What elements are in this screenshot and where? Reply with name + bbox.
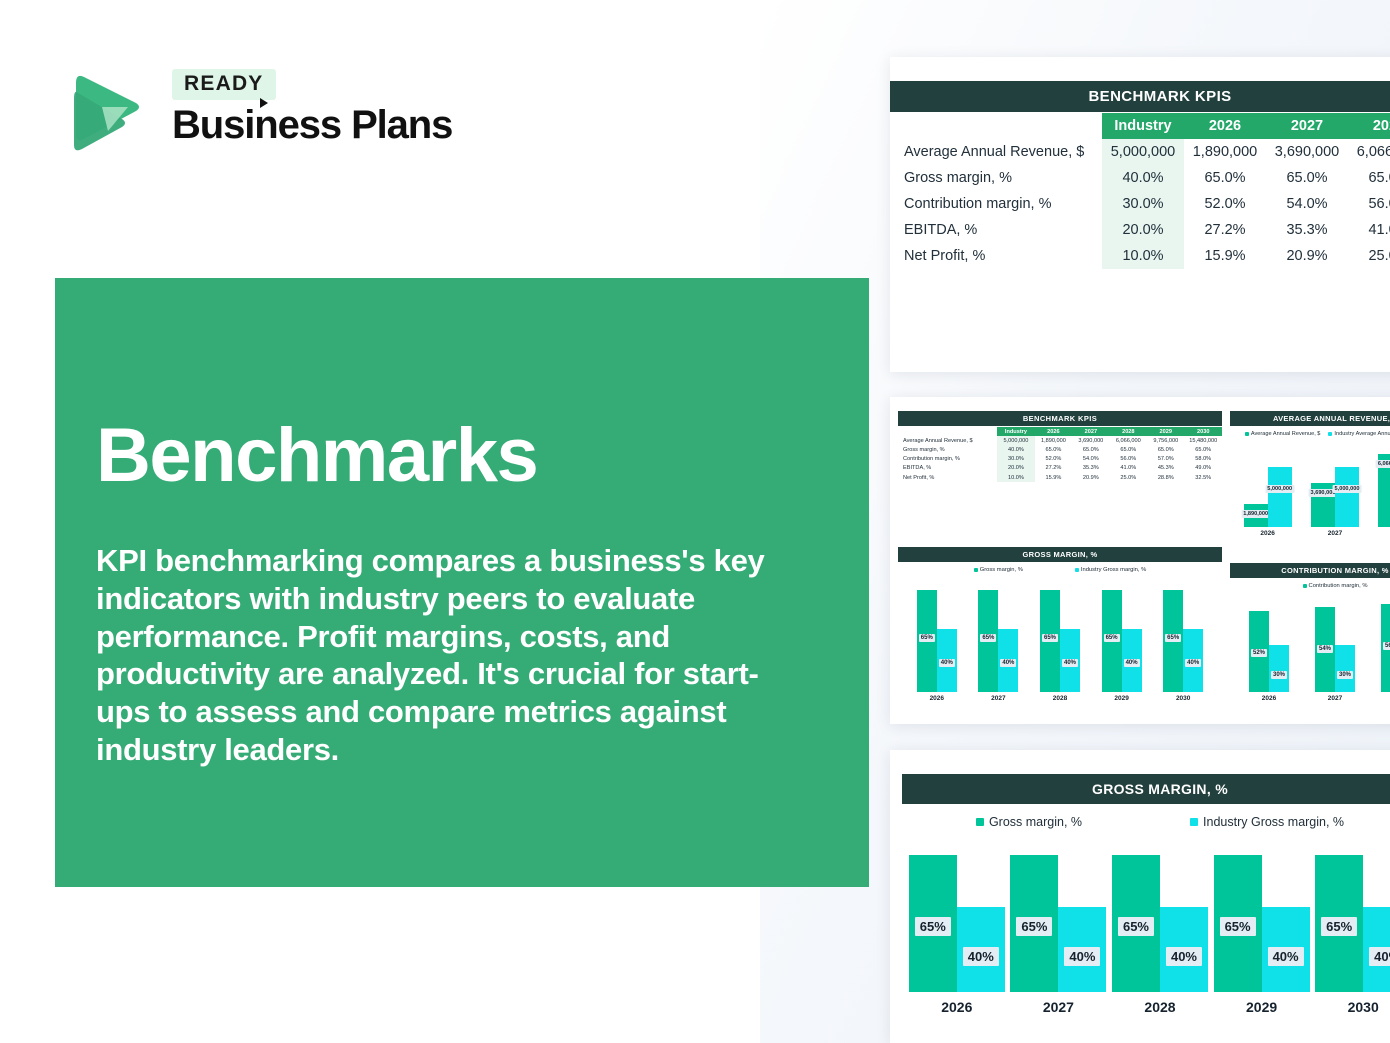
chart-group: 65%40%2027 xyxy=(978,578,1018,702)
legend-swatch-icon xyxy=(976,818,984,826)
table-row: Contribution margin, %30.0%52.0%54.0%56.… xyxy=(898,455,1222,464)
kpi-cell: 20.9% xyxy=(1072,473,1109,482)
bar-value-label: 40% xyxy=(1369,947,1390,966)
chart-bar: 5,000,000 xyxy=(1268,467,1292,527)
kpi-cell: 25.0% xyxy=(1348,243,1390,269)
kpi-corner-cell xyxy=(898,427,997,436)
ready-badge: READY xyxy=(172,69,276,100)
gross-margin-legend: Gross margin, % Industry Gross margin, % xyxy=(890,815,1390,829)
legend-item-industry: Industry Gross margin, % xyxy=(1190,815,1344,829)
contribution-margin-bar-chart: 52%30%202654%30%202756%30%2028 xyxy=(1236,594,1390,702)
chart-bar: 65% xyxy=(1102,590,1122,692)
bar-value-label: 65% xyxy=(1042,634,1058,642)
legend-swatch-icon xyxy=(1075,568,1079,572)
chart-group: 6,066,0005,000,0002028 xyxy=(1378,441,1390,537)
chart-bar: 40% xyxy=(1183,629,1203,692)
bar-value-label: 30% xyxy=(1271,671,1287,679)
bar-value-label: 40% xyxy=(1268,947,1304,966)
benchmark-overview-card: BENCHMARK KPIS Industry20262027202820292… xyxy=(890,397,1390,724)
chart-bar: 5,000,000 xyxy=(1335,467,1359,527)
bar-value-label: 65% xyxy=(980,634,996,642)
kpi-cell: 3,690,000 xyxy=(1072,436,1109,445)
chart-x-label: 2028 xyxy=(1144,999,1175,1015)
bar-value-label: 30% xyxy=(1337,671,1353,679)
kpi-row-label: EBITDA, % xyxy=(890,217,1102,243)
chart-bar: 65% xyxy=(1010,855,1058,992)
chart-bar: 65% xyxy=(917,590,937,692)
chart-group: 65%40%2029 xyxy=(1214,839,1310,1015)
chart-bar: 30% xyxy=(1269,645,1289,692)
kpi-cell: 27.2% xyxy=(1035,464,1072,473)
chart-x-label: 2029 xyxy=(1246,999,1277,1015)
table-row: Net Profit, %10.0%15.9%20.9%25.0%28.8%32… xyxy=(898,473,1222,482)
bar-value-label: 40% xyxy=(1185,659,1201,667)
kpi-cell: 35.3% xyxy=(1072,464,1109,473)
bar-value-label: 65% xyxy=(1118,917,1154,936)
chart-group: 65%40%2029 xyxy=(1102,578,1142,702)
gross-margin-bar-chart: 65%40%202665%40%202765%40%202865%40%2029… xyxy=(906,839,1390,1015)
chart-bar: 40% xyxy=(937,629,957,692)
kpi-cell: 41.0% xyxy=(1110,464,1147,473)
chart-x-label: 2029 xyxy=(1114,695,1128,702)
kpi-cell: 1,890,000 xyxy=(1184,139,1266,165)
legend-label: Industry Gross margin, % xyxy=(1081,567,1146,573)
table-row: Average Annual Revenue, $5,000,0001,890,… xyxy=(898,436,1222,445)
chart-x-label: 2027 xyxy=(1328,530,1342,537)
kpi-cell: 10.0% xyxy=(997,473,1034,482)
legend-item-gm-industry: Industry Gross margin, % xyxy=(1075,567,1146,573)
play-triangle-logo-icon xyxy=(58,55,150,155)
bar-value-label: 65% xyxy=(1165,634,1181,642)
kpi-table-large: BENCHMARK KPIS Industry202620272028 Aver… xyxy=(890,81,1390,269)
chart-group: 54%30%2027 xyxy=(1315,594,1355,702)
legend-item-revenue-industry: Industry Average Annual Revenue, $ xyxy=(1328,431,1390,437)
kpi-cell: 10.0% xyxy=(1102,243,1184,269)
slide-canvas: READY Business Plans Benchmarks KPI benc… xyxy=(0,0,1390,1043)
kpi-cell: 52.0% xyxy=(1035,455,1072,464)
chart-bar: 40% xyxy=(1058,907,1106,992)
kpi-row-label: Gross margin, % xyxy=(890,165,1102,191)
mini-kpi-header-row: Industry20262027202820292030 xyxy=(898,427,1222,436)
hero-panel: Benchmarks KPI benchmarking compares a b… xyxy=(55,278,869,887)
kpi-column-header-industry: Industry xyxy=(997,427,1034,436)
bar-value-label: 40% xyxy=(1000,659,1016,667)
kpi-table: Industry202620272028 Average Annual Reve… xyxy=(890,113,1390,269)
kpi-table-body: Average Annual Revenue, $5,000,0001,890,… xyxy=(890,139,1390,269)
kpi-cell: 45.3% xyxy=(1147,464,1184,473)
contribution-margin-panel: CONTRIBUTION MARGIN, % Contribution marg… xyxy=(1230,563,1390,719)
kpi-cell: 5,000,000 xyxy=(1102,139,1184,165)
kpi-cell: 52.0% xyxy=(1184,191,1266,217)
bar-value-label: 54% xyxy=(1317,645,1333,653)
kpi-column-header-2028: 2028 xyxy=(1348,113,1390,139)
legend-label: Industry Gross margin, % xyxy=(1203,815,1344,829)
chart-x-label: 2026 xyxy=(941,999,972,1015)
kpi-row-label: Average Annual Revenue, $ xyxy=(890,139,1102,165)
chart-bar: 65% xyxy=(1112,855,1160,992)
table-row: Net Profit, %10.0%15.9%20.9%25.0% xyxy=(890,243,1390,269)
kpi-cell: 65.0% xyxy=(1035,445,1072,454)
chart-bar: 56% xyxy=(1381,604,1390,692)
legend-swatch-icon xyxy=(1303,584,1307,588)
kpi-cell: 65.0% xyxy=(1147,445,1184,454)
chart-bar: 40% xyxy=(1262,907,1310,992)
bar-value-label: 5,000,000 xyxy=(1333,485,1362,493)
bar-value-label: 40% xyxy=(963,947,999,966)
kpi-cell: 54.0% xyxy=(1072,455,1109,464)
bar-value-label: 52% xyxy=(1251,649,1267,657)
chart-group: 1,890,0005,000,0002026 xyxy=(1244,441,1292,537)
brand-play-accent-icon xyxy=(260,98,268,108)
chart-bar: 65% xyxy=(1040,590,1060,692)
legend-label: Gross margin, % xyxy=(980,567,1023,573)
chart-bar: 65% xyxy=(1163,590,1183,692)
table-row: Average Annual Revenue, $5,000,0001,890,… xyxy=(890,139,1390,165)
chart-bar: 65% xyxy=(909,855,957,992)
kpi-cell: 6,066,000 xyxy=(1110,436,1147,445)
mini-kpi-table-panel: BENCHMARK KPIS Industry20262027202820292… xyxy=(898,411,1222,497)
revenue-chart-title: AVERAGE ANNUAL REVENUE, $ xyxy=(1230,411,1390,426)
kpi-column-header-2026: 2026 xyxy=(1184,113,1266,139)
bar-value-label: 5,000,000 xyxy=(1265,485,1294,493)
chart-x-label: 2028 xyxy=(1053,695,1067,702)
kpi-row-label: Net Profit, % xyxy=(890,243,1102,269)
gross-margin-mini-title: GROSS MARGIN, % xyxy=(898,547,1222,562)
gross-margin-mini-bar-chart: 65%40%202665%40%202765%40%202865%40%2029… xyxy=(906,578,1214,702)
chart-x-label: 2027 xyxy=(1043,999,1074,1015)
legend-swatch-icon xyxy=(1328,432,1332,436)
kpi-cell: 15.9% xyxy=(1184,243,1266,269)
kpi-row-label: EBITDA, % xyxy=(898,464,997,473)
bar-value-label: 65% xyxy=(1016,917,1052,936)
chart-group: 56%30%2028 xyxy=(1381,594,1390,702)
kpi-column-header-industry: Industry xyxy=(1102,113,1184,139)
chart-bar: 52% xyxy=(1249,611,1269,692)
chart-bar: 6,066,000 xyxy=(1378,454,1390,527)
chart-group: 52%30%2026 xyxy=(1249,594,1289,702)
chart-group: 65%40%2027 xyxy=(1010,839,1106,1015)
bar-value-label: 56% xyxy=(1383,642,1390,650)
legend-item-gm-company: Gross margin, % xyxy=(974,567,1023,573)
kpi-cell: 65.0% xyxy=(1184,165,1266,191)
bar-value-label: 65% xyxy=(919,634,935,642)
kpi-cell: 65.0% xyxy=(1072,445,1109,454)
kpi-column-header-2028: 2028 xyxy=(1110,427,1147,436)
kpi-cell: 65.0% xyxy=(1266,165,1348,191)
kpi-cell: 1,890,000 xyxy=(1035,436,1072,445)
kpi-cell: 5,000,000 xyxy=(997,436,1034,445)
hero-description: KPI benchmarking compares a business's k… xyxy=(96,542,766,769)
kpi-cell: 20.9% xyxy=(1266,243,1348,269)
kpi-cell: 35.3% xyxy=(1266,217,1348,243)
benchmark-kpi-card: BENCHMARK KPIS Industry202620272028 Aver… xyxy=(890,57,1390,372)
chart-group: 65%40%2030 xyxy=(1163,578,1203,702)
chart-x-label: 2027 xyxy=(1328,695,1342,702)
contribution-margin-legend: Contribution margin, % xyxy=(1230,583,1390,589)
bar-value-label: 65% xyxy=(915,917,951,936)
bar-value-label: 65% xyxy=(1321,917,1357,936)
mini-kpi-table: Industry20262027202820292030 Average Ann… xyxy=(898,427,1222,482)
kpi-cell: 20.0% xyxy=(997,464,1034,473)
gross-margin-title: GROSS MARGIN, % xyxy=(902,774,1390,804)
gross-margin-mini-panel: GROSS MARGIN, % Gross margin, % Industry… xyxy=(898,547,1222,719)
gross-margin-mini-legend: Gross margin, % Industry Gross margin, % xyxy=(898,567,1222,573)
legend-swatch-icon xyxy=(1190,818,1198,826)
chart-bar: 65% xyxy=(978,590,998,692)
kpi-row-label: Gross margin, % xyxy=(898,445,997,454)
chart-group: 65%40%2030 xyxy=(1315,839,1390,1015)
kpi-cell: 56.0% xyxy=(1348,191,1390,217)
kpi-corner-cell xyxy=(890,113,1102,139)
legend-item-cm-company: Contribution margin, % xyxy=(1303,583,1368,589)
kpi-cell: 25.0% xyxy=(1110,473,1147,482)
kpi-cell: 56.0% xyxy=(1110,455,1147,464)
legend-label: Gross margin, % xyxy=(989,815,1082,829)
kpi-column-header-2030: 2030 xyxy=(1184,427,1222,436)
page-title: Benchmarks xyxy=(96,418,869,494)
brand-logo[interactable]: READY Business Plans xyxy=(58,55,452,155)
bar-value-label: 1,890,000 xyxy=(1241,510,1270,518)
legend-label: Average Annual Revenue, $ xyxy=(1251,431,1321,437)
legend-swatch-icon xyxy=(1245,432,1249,436)
chart-group: 3,690,0005,000,0002027 xyxy=(1311,441,1359,537)
chart-x-label: 2030 xyxy=(1348,999,1379,1015)
kpi-cell: 40.0% xyxy=(997,445,1034,454)
kpi-row-label: Contribution margin, % xyxy=(890,191,1102,217)
contribution-margin-title: CONTRIBUTION MARGIN, % xyxy=(1230,563,1390,578)
revenue-chart-legend: Average Annual Revenue, $ Industry Avera… xyxy=(1230,431,1390,437)
legend-item-revenue-company: Average Annual Revenue, $ xyxy=(1245,431,1321,437)
chart-bar: 40% xyxy=(957,907,1005,992)
chart-x-label: 2030 xyxy=(1176,695,1190,702)
table-row: Contribution margin, %30.0%52.0%54.0%56.… xyxy=(890,191,1390,217)
legend-swatch-icon xyxy=(974,568,978,572)
table-row: Gross margin, %40.0%65.0%65.0%65.0%65.0%… xyxy=(898,445,1222,454)
bar-value-label: 65% xyxy=(1220,917,1256,936)
kpi-cell: 28.8% xyxy=(1147,473,1184,482)
table-row: EBITDA, %20.0%27.2%35.3%41.0%45.3%49.0% xyxy=(898,464,1222,473)
chart-x-label: 2026 xyxy=(1262,695,1276,702)
kpi-cell: 6,066,000 xyxy=(1348,139,1390,165)
kpi-cell: 65.0% xyxy=(1110,445,1147,454)
mini-kpi-table-title: BENCHMARK KPIS xyxy=(898,411,1222,426)
kpi-cell: 15,480,000 xyxy=(1184,436,1222,445)
chart-x-label: 2026 xyxy=(1260,530,1274,537)
kpi-row-label: Contribution margin, % xyxy=(898,455,997,464)
chart-bar: 40% xyxy=(1060,629,1080,692)
kpi-cell: 49.0% xyxy=(1184,464,1222,473)
kpi-cell: 30.0% xyxy=(1102,191,1184,217)
brand-wordmark: READY Business Plans xyxy=(172,55,452,145)
legend-item-company: Gross margin, % xyxy=(976,815,1082,829)
chart-bar: 40% xyxy=(1363,907,1390,992)
legend-label: Industry Average Annual Revenue, $ xyxy=(1334,431,1390,437)
chart-x-label: 2026 xyxy=(930,695,944,702)
chart-bar: 54% xyxy=(1315,607,1335,692)
table-row: Gross margin, %40.0%65.0%65.0%65.0% xyxy=(890,165,1390,191)
gross-margin-card: GROSS MARGIN, % Gross margin, % Industry… xyxy=(890,750,1390,1043)
brand-name-text: Business Plans xyxy=(172,103,452,147)
kpi-cell: 30.0% xyxy=(997,455,1034,464)
kpi-column-header-2029: 2029 xyxy=(1147,427,1184,436)
kpi-column-header-2026: 2026 xyxy=(1035,427,1072,436)
chart-x-label: 2027 xyxy=(991,695,1005,702)
kpi-cell: 9,756,000 xyxy=(1147,436,1184,445)
chart-group: 65%40%2026 xyxy=(909,839,1005,1015)
revenue-bar-chart: 1,890,0005,000,00020263,690,0005,000,000… xyxy=(1234,441,1390,537)
chart-bar: 65% xyxy=(1315,855,1363,992)
table-row: EBITDA, %20.0%27.2%35.3%41.0% xyxy=(890,217,1390,243)
chart-group: 65%40%2028 xyxy=(1040,578,1080,702)
legend-label: Contribution margin, % xyxy=(1309,583,1368,589)
kpi-cell: 27.2% xyxy=(1184,217,1266,243)
kpi-cell: 58.0% xyxy=(1184,455,1222,464)
kpi-cell: 40.0% xyxy=(1102,165,1184,191)
kpi-column-header-2027: 2027 xyxy=(1072,427,1109,436)
bar-value-label: 65% xyxy=(1104,634,1120,642)
kpi-row-label: Net Profit, % xyxy=(898,473,997,482)
chart-bar: 40% xyxy=(1160,907,1208,992)
bar-value-label: 6,066,000 xyxy=(1376,460,1390,468)
bar-value-label: 40% xyxy=(939,659,955,667)
chart-bar: 40% xyxy=(998,629,1018,692)
bar-value-label: 40% xyxy=(1064,947,1100,966)
chart-group: 65%40%2026 xyxy=(917,578,957,702)
chart-group: 65%40%2028 xyxy=(1112,839,1208,1015)
kpi-table-header-row: Industry202620272028 xyxy=(890,113,1390,139)
mini-kpi-body: Average Annual Revenue, $5,000,0001,890,… xyxy=(898,436,1222,482)
kpi-cell: 3,690,000 xyxy=(1266,139,1348,165)
kpi-table-title: BENCHMARK KPIS xyxy=(890,81,1390,112)
kpi-row-label: Average Annual Revenue, $ xyxy=(898,436,997,445)
chart-bar: 1,890,000 xyxy=(1244,504,1268,527)
brand-name: Business Plans xyxy=(172,105,452,145)
kpi-cell: 57.0% xyxy=(1147,455,1184,464)
kpi-cell: 41.0% xyxy=(1348,217,1390,243)
chart-bar: 40% xyxy=(1122,629,1142,692)
kpi-cell: 65.0% xyxy=(1184,445,1222,454)
chart-bar: 3,690,000 xyxy=(1311,483,1335,527)
bar-value-label: 40% xyxy=(1124,659,1140,667)
kpi-cell: 32.5% xyxy=(1184,473,1222,482)
revenue-chart-panel: AVERAGE ANNUAL REVENUE, $ Average Annual… xyxy=(1230,411,1390,557)
kpi-cell: 54.0% xyxy=(1266,191,1348,217)
kpi-column-header-2027: 2027 xyxy=(1266,113,1348,139)
bar-value-label: 40% xyxy=(1166,947,1202,966)
chart-bar: 65% xyxy=(1214,855,1262,992)
kpi-cell: 20.0% xyxy=(1102,217,1184,243)
bar-value-label: 40% xyxy=(1062,659,1078,667)
kpi-cell: 65.0% xyxy=(1348,165,1390,191)
chart-bar: 30% xyxy=(1335,645,1355,692)
kpi-cell: 15.9% xyxy=(1035,473,1072,482)
